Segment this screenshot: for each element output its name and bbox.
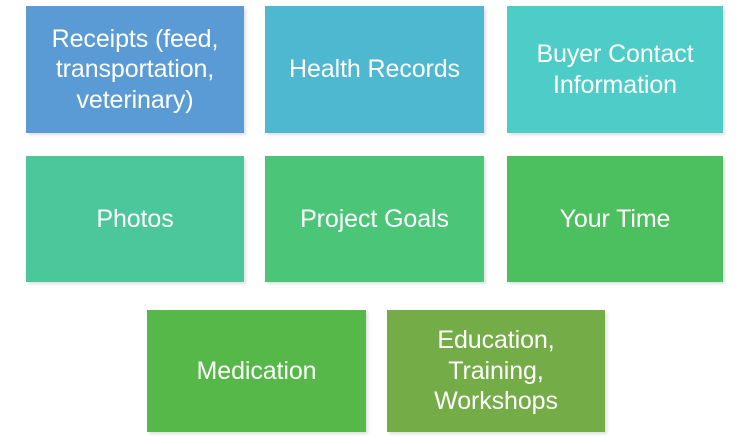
tile-education-training-workshops[interactable]: Education, Training, Workshops <box>387 310 605 432</box>
tile-receipts[interactable]: Receipts (feed, transportation, veterina… <box>26 6 244 133</box>
tile-photos[interactable]: Photos <box>26 156 244 282</box>
tile-medication[interactable]: Medication <box>147 310 366 432</box>
tile-your-time-label: Your Time <box>515 204 715 235</box>
record-book-components-diagram: Receipts (feed, transportation, veterina… <box>0 0 750 444</box>
tile-photos-label: Photos <box>34 204 236 235</box>
tile-receipts-label: Receipts (feed, transportation, veterina… <box>34 24 236 116</box>
tile-buyer-contact-information-label: Buyer Contact Information <box>515 39 715 100</box>
tile-education-training-workshops-label: Education, Training, Workshops <box>395 325 597 417</box>
tile-medication-label: Medication <box>155 356 358 387</box>
tile-your-time[interactable]: Your Time <box>507 156 723 282</box>
tile-project-goals-label: Project Goals <box>273 204 476 235</box>
tile-health-records[interactable]: Health Records <box>265 6 484 133</box>
tile-project-goals[interactable]: Project Goals <box>265 156 484 282</box>
tile-health-records-label: Health Records <box>273 54 476 85</box>
tile-buyer-contact-information[interactable]: Buyer Contact Information <box>507 6 723 133</box>
